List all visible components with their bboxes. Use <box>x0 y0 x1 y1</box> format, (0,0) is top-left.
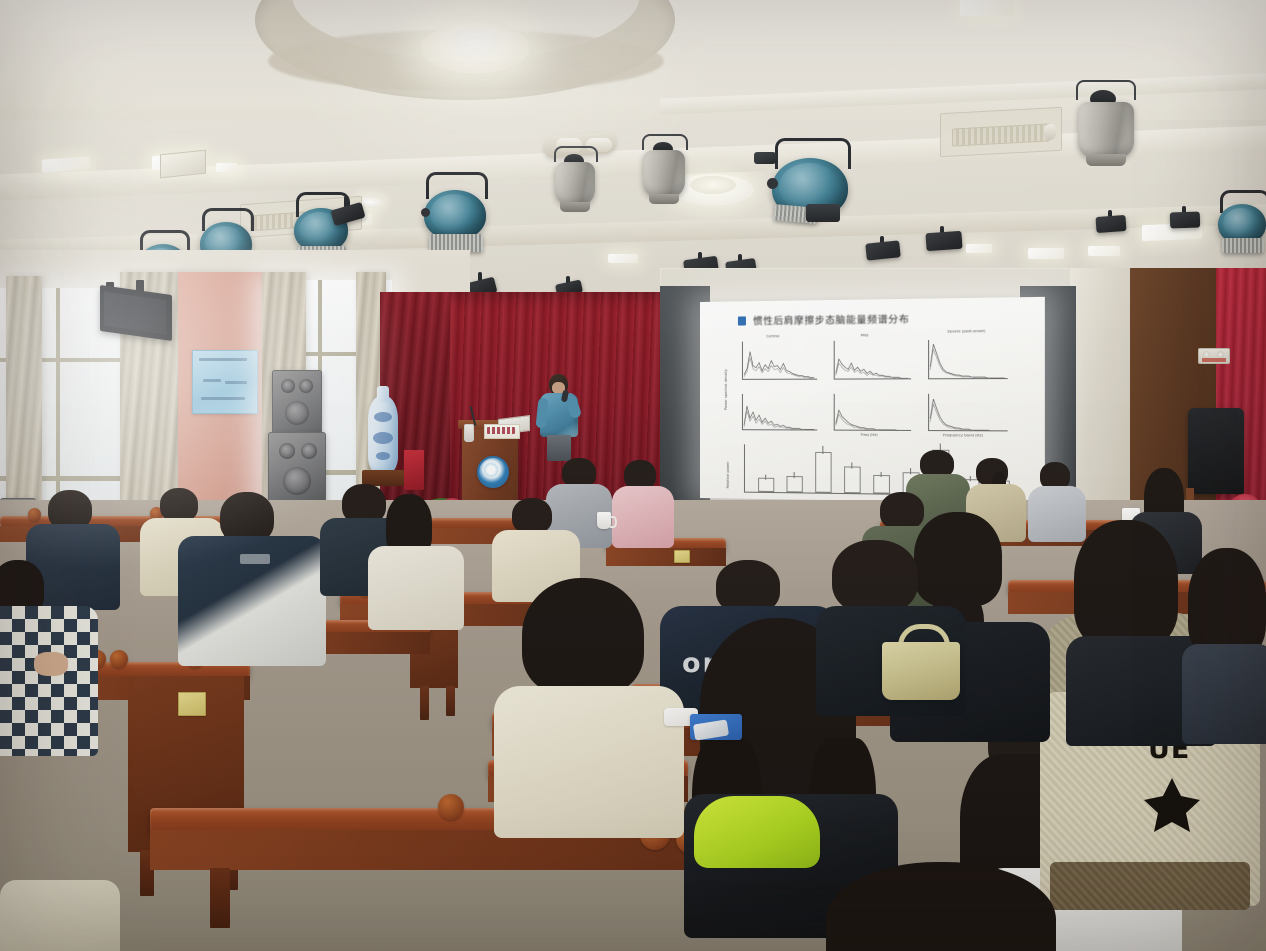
panel-light <box>960 0 1014 16</box>
panel-light <box>1088 246 1120 256</box>
bench-leg <box>446 686 455 716</box>
presenter <box>536 374 582 460</box>
bench-face <box>606 548 726 566</box>
panel-light <box>216 163 238 172</box>
light-snoot <box>1086 154 1126 166</box>
sherpa-hem <box>1050 862 1250 910</box>
seat-number-tag <box>178 692 206 716</box>
light-barndoor <box>1222 238 1264 253</box>
slide-title-row: 惯性后肩摩擦步态脑能量频谱分布 <box>738 311 910 327</box>
spot-head <box>1095 215 1126 233</box>
seat-number-tag <box>674 550 690 563</box>
slide-spectrum-curve <box>928 394 1008 432</box>
ac-vent-cap <box>1044 124 1056 141</box>
slide-bar <box>815 452 831 493</box>
slide-bar <box>758 478 774 492</box>
emergency-light <box>1198 348 1230 364</box>
bench-knob <box>28 508 41 521</box>
mug-handle <box>610 516 617 528</box>
panel-light <box>1028 248 1064 259</box>
slide-spectrum-curve <box>834 340 911 379</box>
light-knob <box>421 208 430 217</box>
stage-chair <box>1188 408 1244 494</box>
slide-title: 惯性后肩摩擦步态脑能量频谱分布 <box>753 311 909 327</box>
university-seal-inner <box>484 463 498 477</box>
panel-light <box>608 254 638 263</box>
recessed-downlight <box>690 176 736 194</box>
dome-ceiling-light <box>420 22 530 74</box>
spot-head <box>1170 211 1201 228</box>
slide-bar <box>844 466 861 493</box>
spot-head <box>865 240 901 260</box>
slide-spectrum-curve <box>928 339 1008 379</box>
presenter-legs <box>547 435 571 461</box>
porcelain-vase <box>368 396 398 474</box>
slide-bar-y-label: Relative power <box>726 461 730 488</box>
water-bottle <box>464 424 474 442</box>
slide-plot-panel <box>742 394 817 431</box>
light-lens <box>1223 208 1259 238</box>
slide-spectrum-curve <box>742 394 817 431</box>
bench-knob <box>438 794 464 820</box>
light-base <box>806 204 840 222</box>
light-snoot <box>560 202 590 212</box>
wall-poster <box>192 350 258 414</box>
light-knob <box>767 178 778 189</box>
slide-plot-panel: Freq (Hz) <box>834 394 911 431</box>
window-curtain <box>6 276 42 524</box>
lecture-hall-photo: 惯性后肩摩擦步态脑能量频谱分布 Power spectral density C… <box>0 0 1266 951</box>
panel-light <box>966 244 992 253</box>
slide-plot-panel: Control <box>742 341 817 380</box>
slide-bullet-icon <box>738 316 746 325</box>
coffee-mug <box>597 512 611 529</box>
neon-hood <box>694 796 820 868</box>
light-body <box>1078 102 1134 158</box>
tote-bag <box>882 642 960 700</box>
slide-plot-panel: Mild <box>834 340 911 379</box>
checkered-sweater <box>0 606 98 756</box>
recessed-downlight <box>160 150 206 179</box>
slide-y-axis-label: Power spectral density <box>724 369 728 410</box>
bench-leg <box>420 686 429 720</box>
light-lens <box>430 194 478 234</box>
podium-name-card-text <box>487 427 515 434</box>
slide-spectrum-curve <box>834 394 911 431</box>
red-floor-box <box>404 450 424 490</box>
slide-bar <box>786 476 802 492</box>
pa-speaker <box>268 432 326 506</box>
jacket-logo <box>240 554 270 564</box>
slide-spectrum-curve <box>742 341 817 380</box>
light-body <box>643 150 685 198</box>
slide-plot-panel: Severe (post-onset) <box>928 339 1008 379</box>
light-snoot <box>649 194 679 204</box>
spot-head <box>925 231 962 251</box>
sherpa-x-graphic <box>1142 774 1202 834</box>
vase-neck <box>377 386 389 402</box>
slide-bar <box>873 475 890 494</box>
bench-leg <box>210 868 230 928</box>
bench-knob <box>110 650 128 668</box>
pa-speaker <box>272 370 322 434</box>
slide-plot-panel: Frequency band (Hz) <box>928 394 1008 432</box>
hand <box>34 652 68 676</box>
light-accessory <box>754 152 776 164</box>
window-mullion <box>56 288 60 518</box>
light-body <box>555 162 595 206</box>
